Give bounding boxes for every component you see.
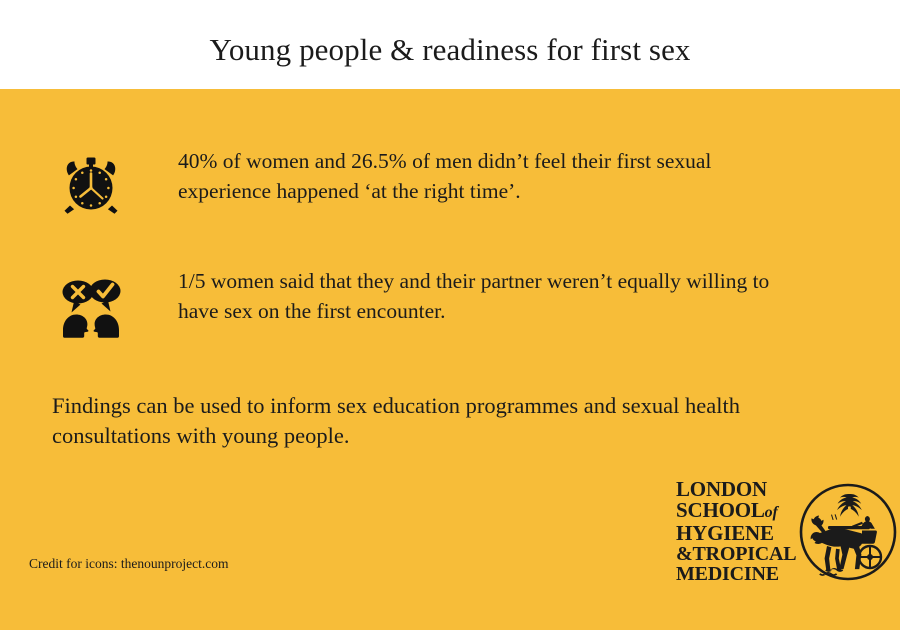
stat-row: 40% of women and 26.5% of men didn’t fee… (0, 144, 900, 234)
logo-line-hygiene: HYGIENE (676, 523, 798, 544)
logo-word-school: SCHOOL (676, 498, 765, 522)
logo-wordmark: LONDON SCHOOLof HYGIENE &TROPICAL MEDICI… (676, 479, 798, 585)
alarm-clock-icon (58, 144, 124, 230)
stat-row: 1/5 women said that they and their partn… (0, 264, 900, 354)
logo-line-london: LONDON (676, 479, 798, 500)
infographic-poster: Young people & readiness for first sex (0, 0, 900, 630)
logo-line-medicine: MEDICINE (676, 564, 798, 585)
logo-line-and-tropical: &TROPICAL (676, 544, 798, 565)
lshtm-logo: LONDON SCHOOLof HYGIENE &TROPICAL MEDICI… (676, 479, 880, 589)
findings-text: Findings can be used to inform sex educa… (52, 391, 792, 451)
two-heads-speech-bubbles-icon (58, 264, 124, 350)
stat-text: 1/5 women said that they and their partn… (178, 266, 798, 326)
credit-text: Credit for icons: thenounproject.com (29, 556, 228, 572)
header-band: Young people & readiness for first sex (0, 0, 900, 89)
logo-line-school-of: SCHOOLof (676, 500, 798, 524)
stat-text: 40% of women and 26.5% of men didn’t fee… (178, 146, 798, 206)
logo-word-of: of (765, 504, 778, 521)
chariot-horse-palm-crest-icon (798, 480, 898, 584)
body-background: 40% of women and 26.5% of men didn’t fee… (0, 89, 900, 630)
page-title: Young people & readiness for first sex (0, 32, 900, 68)
